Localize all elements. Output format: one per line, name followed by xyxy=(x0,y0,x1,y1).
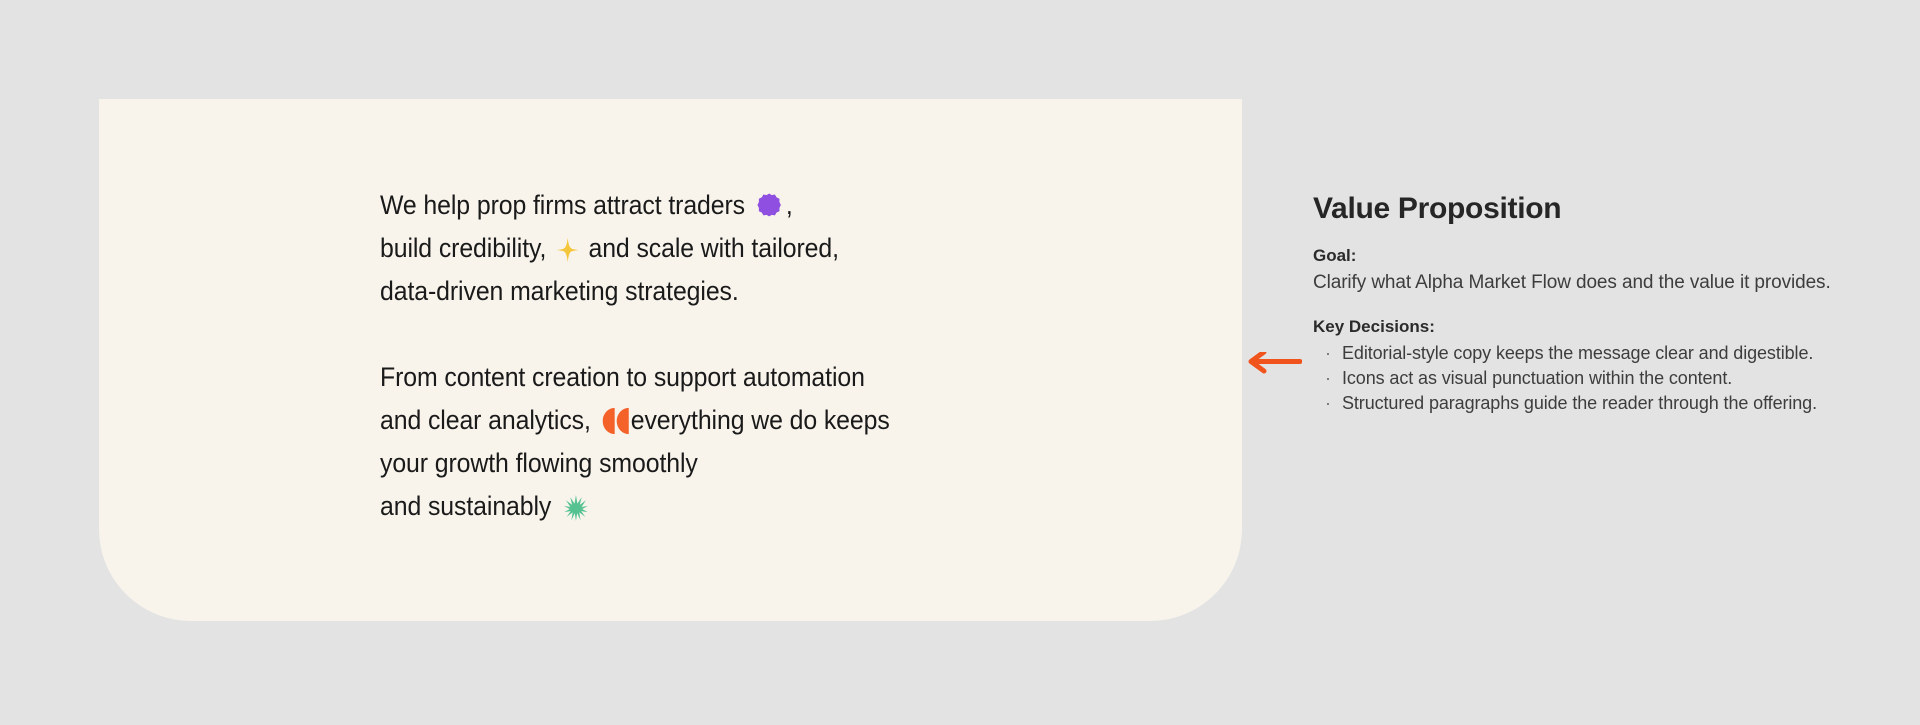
slide-card: We help prop firms attract traders , bui… xyxy=(99,99,1242,621)
paragraph-2-line-4: and sustainably xyxy=(380,485,1024,528)
line-text-after: and scale with tailored, xyxy=(588,233,838,263)
paragraph-1: We help prop firms attract traders , bui… xyxy=(380,184,1024,313)
paragraph-2-line-3: your growth flowing smoothly xyxy=(380,442,1024,485)
green-twelve-point-star-icon xyxy=(564,495,588,521)
list-item: · Icons act as visual punctuation within… xyxy=(1313,366,1843,391)
key-decisions-block: Key Decisions: · Editorial-style copy ke… xyxy=(1313,315,1843,416)
paragraph-1-line-2: build credibility, and scale with tailor… xyxy=(380,227,1024,270)
line-text-after: , xyxy=(786,190,793,220)
list-item-text: Editorial-style copy keeps the message c… xyxy=(1342,343,1813,363)
line-text: We help prop firms attract traders xyxy=(380,190,745,220)
line-text: From content creation to support automat… xyxy=(380,362,865,392)
yellow-four-point-sparkle-icon xyxy=(556,237,580,263)
line-text: build credibility, xyxy=(380,233,546,263)
purple-scallop-badge-icon xyxy=(757,193,781,219)
bullet-icon: · xyxy=(1325,341,1331,366)
line-text: data-driven marketing strategies. xyxy=(380,276,739,306)
paragraph-2-line-1: From content creation to support automat… xyxy=(380,356,1024,399)
goal-label: Goal: xyxy=(1313,244,1843,268)
goal-block: Goal: Clarify what Alpha Market Flow doe… xyxy=(1313,244,1843,297)
paragraph-1-line-3: data-driven marketing strategies. xyxy=(380,270,1024,313)
goal-text: Clarify what Alpha Market Flow does and … xyxy=(1313,268,1843,297)
key-decisions-list: · Editorial-style copy keeps the message… xyxy=(1313,341,1843,416)
orange-double-halfmoon-icon xyxy=(602,407,630,435)
list-item-text: Structured paragraphs guide the reader t… xyxy=(1342,393,1817,413)
paragraph-1-line-1: We help prop firms attract traders , xyxy=(380,184,1024,227)
line-text-after: everything we do keeps xyxy=(631,405,890,435)
annotation-title: Value Proposition xyxy=(1313,192,1843,226)
key-decisions-label: Key Decisions: xyxy=(1313,315,1843,339)
bullet-icon: · xyxy=(1325,391,1331,416)
paragraph-2-line-2: and clear analytics, everything we do ke… xyxy=(380,399,1024,442)
slide-copy-block: We help prop firms attract traders , bui… xyxy=(380,184,1080,528)
list-item: · Structured paragraphs guide the reader… xyxy=(1313,391,1843,416)
annotation-panel: Value Proposition Goal: Clarify what Alp… xyxy=(1313,192,1843,416)
line-text: your growth flowing smoothly xyxy=(380,448,698,478)
paragraph-2: From content creation to support automat… xyxy=(380,356,1024,528)
left-arrow-icon xyxy=(1246,352,1302,376)
line-text: and sustainably xyxy=(380,491,551,521)
list-item-text: Icons act as visual punctuation within t… xyxy=(1342,368,1732,388)
list-item: · Editorial-style copy keeps the message… xyxy=(1313,341,1843,366)
bullet-icon: · xyxy=(1325,366,1331,391)
line-text: and clear analytics, xyxy=(380,405,591,435)
